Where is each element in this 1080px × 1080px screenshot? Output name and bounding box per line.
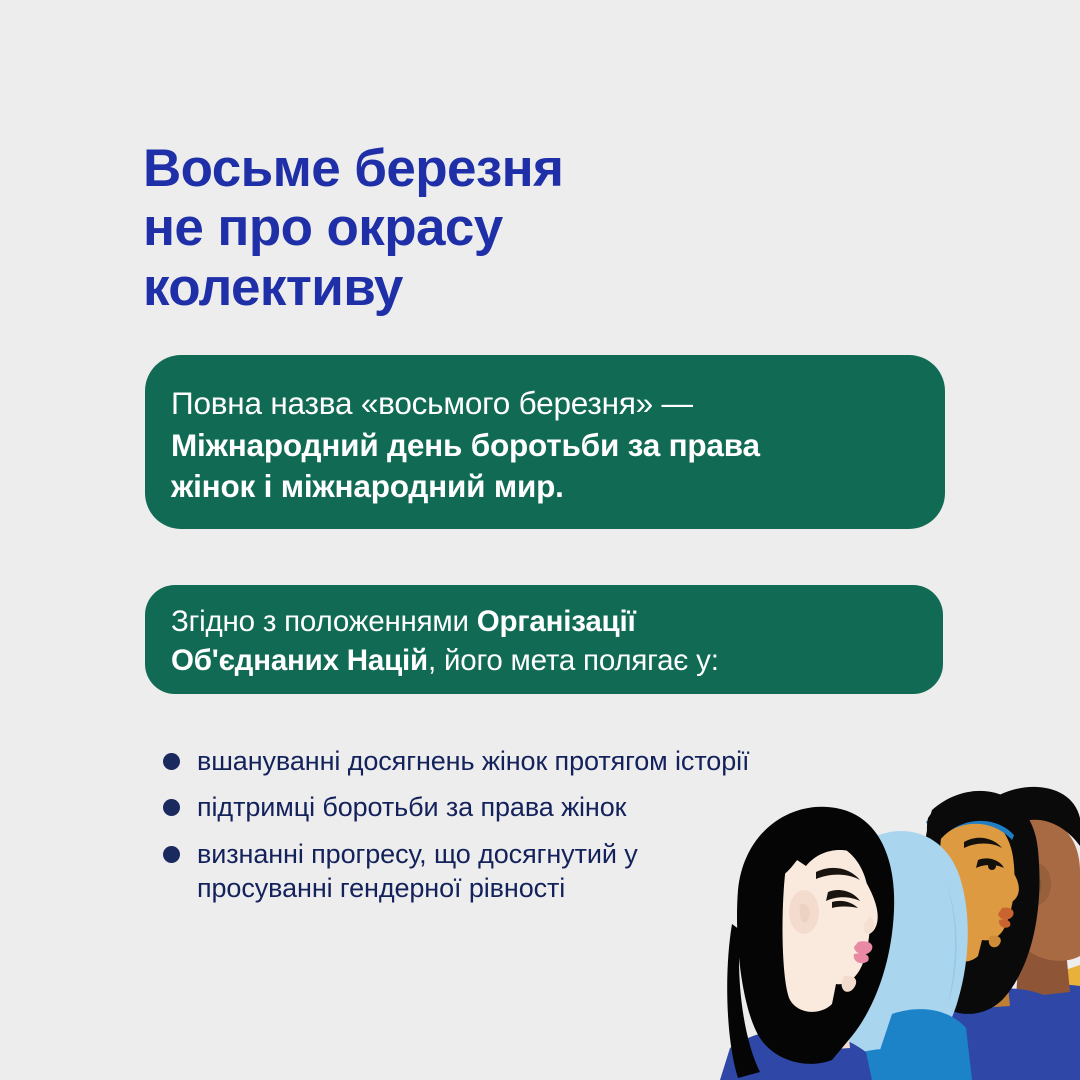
bullet-dot-icon	[163, 799, 180, 816]
list-item-line: визнанні прогресу, що досягнутий у	[197, 837, 638, 871]
un-purpose-card: Згідно з положеннями ОрганізаціїОб'єднан…	[145, 585, 943, 694]
bullet-dot-icon	[163, 846, 180, 863]
full-name-card: Повна назва «восьмого березня» — Міжнаро…	[145, 355, 945, 529]
un-purpose-bold-1: Організації	[477, 605, 636, 638]
list-item-text: підтримці боротьби за права жінок	[197, 790, 626, 824]
poster-canvas: Восьме березня не про окрасу колективу П…	[0, 0, 1080, 1080]
four-women-profiles-illustration	[720, 760, 1080, 1080]
list-item-text: вшануванні досягнень жінок протягом істо…	[197, 744, 749, 778]
full-name-line-2: Міжнародний день боротьби за права	[171, 425, 931, 467]
bullet-dot-icon	[163, 753, 180, 770]
full-name-line-1: Повна назва «восьмого березня» —	[171, 383, 931, 425]
list-item-line: вшануванні досягнень жінок протягом істо…	[197, 744, 749, 778]
un-purpose-prefix: Згідно з положеннями	[171, 605, 477, 638]
title-line-3: колективу	[143, 258, 863, 317]
full-name-card-text: Повна назва «восьмого березня» — Міжнаро…	[171, 383, 931, 508]
list-item-text: визнанні прогресу, що досягнутий у просу…	[197, 837, 638, 906]
title-line-2: не про окрасу	[143, 198, 863, 257]
un-purpose-card-text: Згідно з положеннями ОрганізаціїОб'єднан…	[171, 602, 931, 680]
full-name-line-3: жінок і міжнародний мир.	[171, 466, 931, 508]
list-item-line: підтримці боротьби за права жінок	[197, 790, 626, 824]
un-purpose-bold-2: Об'єднаних Націй	[171, 644, 428, 677]
un-purpose-line-2: Об'єднаних Націй, його мета полягає у:	[171, 641, 931, 680]
list-item-line: просуванні гендерної рівності	[197, 871, 638, 905]
un-purpose-line-1: Згідно з положеннями Організації	[171, 602, 931, 641]
page-title: Восьме березня не про окрасу колективу	[143, 139, 863, 317]
un-purpose-suffix: , його мета полягає у:	[428, 644, 719, 677]
title-line-1: Восьме березня	[143, 139, 863, 198]
